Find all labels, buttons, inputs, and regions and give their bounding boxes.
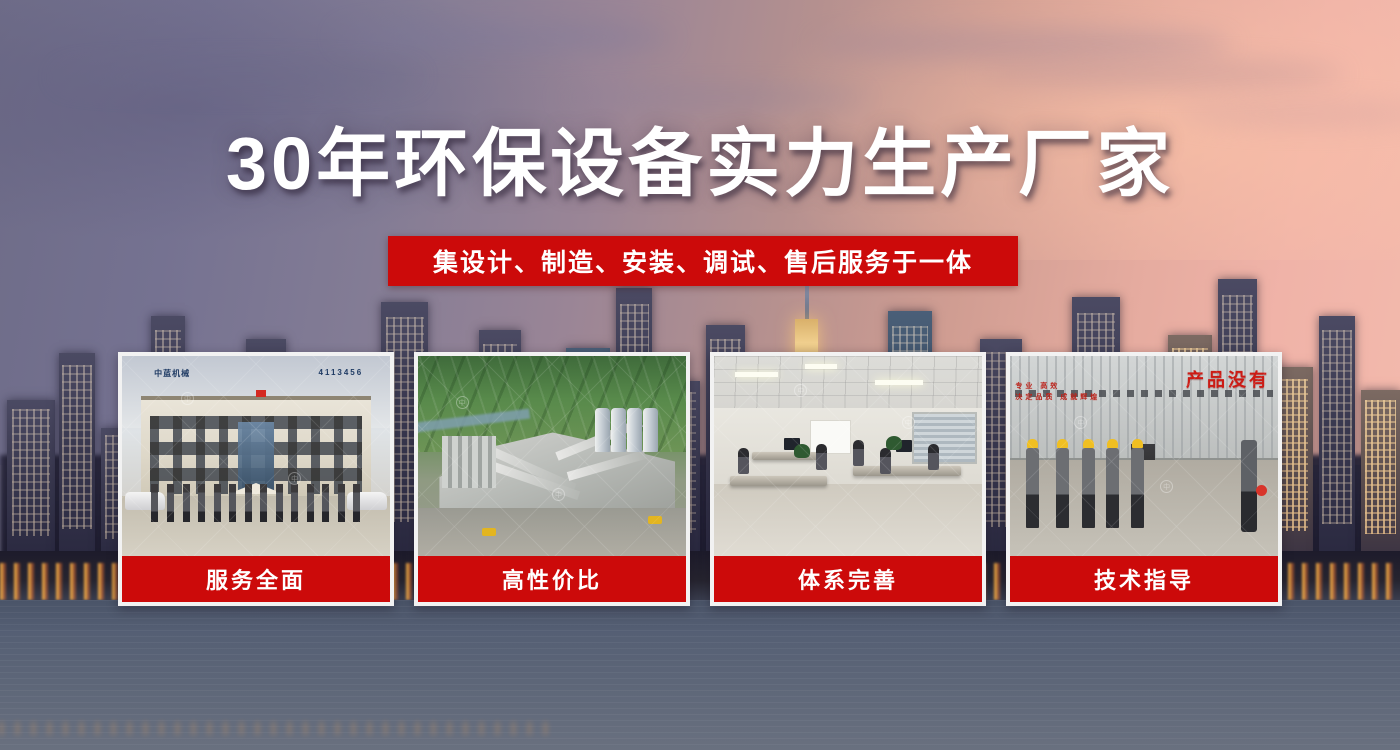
- person: [853, 440, 864, 466]
- feature-card-list: 中蓝机械 4113456 中 中 服务全面: [118, 352, 1282, 606]
- desk: [853, 466, 960, 476]
- building: [1361, 390, 1400, 557]
- feature-card-system[interactable]: 中 中 体系完善: [710, 352, 986, 606]
- desk: [752, 452, 822, 460]
- glass-entrance: [238, 422, 275, 490]
- card-caption-bar: 高性价比: [418, 556, 686, 602]
- page-title: 30年环保设备实力生产厂家: [0, 127, 1400, 201]
- person: [880, 448, 891, 474]
- cloud: [1176, 102, 1400, 125]
- photo-technical-guidance: 产品没有 专业 高效决定品质 成就辉煌 中 中: [1010, 356, 1278, 556]
- card-caption: 高性价比: [502, 563, 602, 595]
- person: [816, 444, 827, 470]
- watermark-logo: 中: [456, 396, 469, 409]
- card-caption: 体系完善: [798, 563, 898, 595]
- person: [738, 448, 749, 474]
- cloud: [336, 23, 672, 51]
- ceiling-light: [805, 364, 837, 369]
- storage-silo: [595, 408, 610, 452]
- storage-silo: [643, 408, 658, 452]
- factory-slogan-small: 专业 高效决定品质 成就辉煌: [1015, 382, 1100, 403]
- light-reflection: [0, 722, 560, 736]
- worker-with-helmet: [1131, 448, 1144, 528]
- cloud: [560, 88, 868, 107]
- storage-silo: [611, 408, 626, 452]
- person: [928, 444, 939, 470]
- card-caption-bar: 技术指导: [1010, 556, 1278, 602]
- photo-office-interior: 中 中: [714, 356, 982, 556]
- staff-lineup: [151, 484, 360, 522]
- potted-plant: [886, 436, 902, 450]
- feature-card-guidance[interactable]: 产品没有 专业 高效决定品质 成就辉煌 中 中 技术指导: [1006, 352, 1282, 606]
- potted-plant: [794, 444, 810, 458]
- card-caption-bar: 服务全面: [122, 556, 390, 602]
- card-caption-bar: 体系完善: [714, 556, 982, 602]
- worker-with-helmet: [1082, 448, 1095, 528]
- desk: [730, 476, 826, 486]
- photo-company-headquarters: 中蓝机械 4113456 中 中: [122, 356, 390, 556]
- flag-icon: [256, 390, 266, 397]
- instructor: [1241, 440, 1257, 532]
- office-ceiling: [714, 356, 982, 408]
- preheater-stacks: [442, 436, 496, 488]
- building: [1319, 316, 1355, 558]
- river-water: [0, 600, 1400, 750]
- factory-slogan-large: 产品没有: [1186, 366, 1270, 392]
- excavator: [482, 528, 496, 536]
- photo-production-plant: 中 中: [418, 356, 686, 556]
- building: [59, 353, 95, 558]
- watermark-logo: 中: [1160, 480, 1173, 493]
- storage-silo: [627, 408, 642, 452]
- card-caption: 技术指导: [1094, 563, 1194, 595]
- worker-with-helmet: [1026, 448, 1039, 528]
- subtitle-text: 集设计、制造、安装、调试、售后服务于一体: [433, 243, 973, 279]
- watermark-logo: 中: [181, 392, 194, 405]
- ceiling-light: [875, 380, 923, 385]
- ceiling-light: [735, 372, 778, 377]
- feature-card-value[interactable]: 中 中 高性价比: [414, 352, 690, 606]
- excavator: [648, 516, 662, 524]
- watermark-logo: 中: [552, 488, 565, 501]
- building-sign-left: 中蓝机械: [154, 368, 190, 379]
- office-floor: [714, 484, 982, 556]
- subtitle-banner: 集设计、制造、安装、调试、售后服务于一体: [388, 236, 1018, 286]
- worker-with-helmet: [1106, 448, 1119, 528]
- building: [7, 400, 55, 558]
- factory-yard: [1010, 460, 1278, 556]
- window-blinds: [912, 412, 976, 464]
- worker-with-helmet: [1056, 448, 1069, 528]
- card-caption: 服务全面: [206, 563, 306, 595]
- watermark-logo: 中: [902, 416, 915, 429]
- feature-card-service[interactable]: 中蓝机械 4113456 中 中 服务全面: [118, 352, 394, 606]
- promotional-banner: 30年环保设备实力生产厂家 集设计、制造、安装、调试、售后服务于一体 中蓝机械 …: [0, 0, 1400, 750]
- building-sign-right: 4113456: [319, 368, 364, 377]
- plant-yard: [418, 508, 686, 556]
